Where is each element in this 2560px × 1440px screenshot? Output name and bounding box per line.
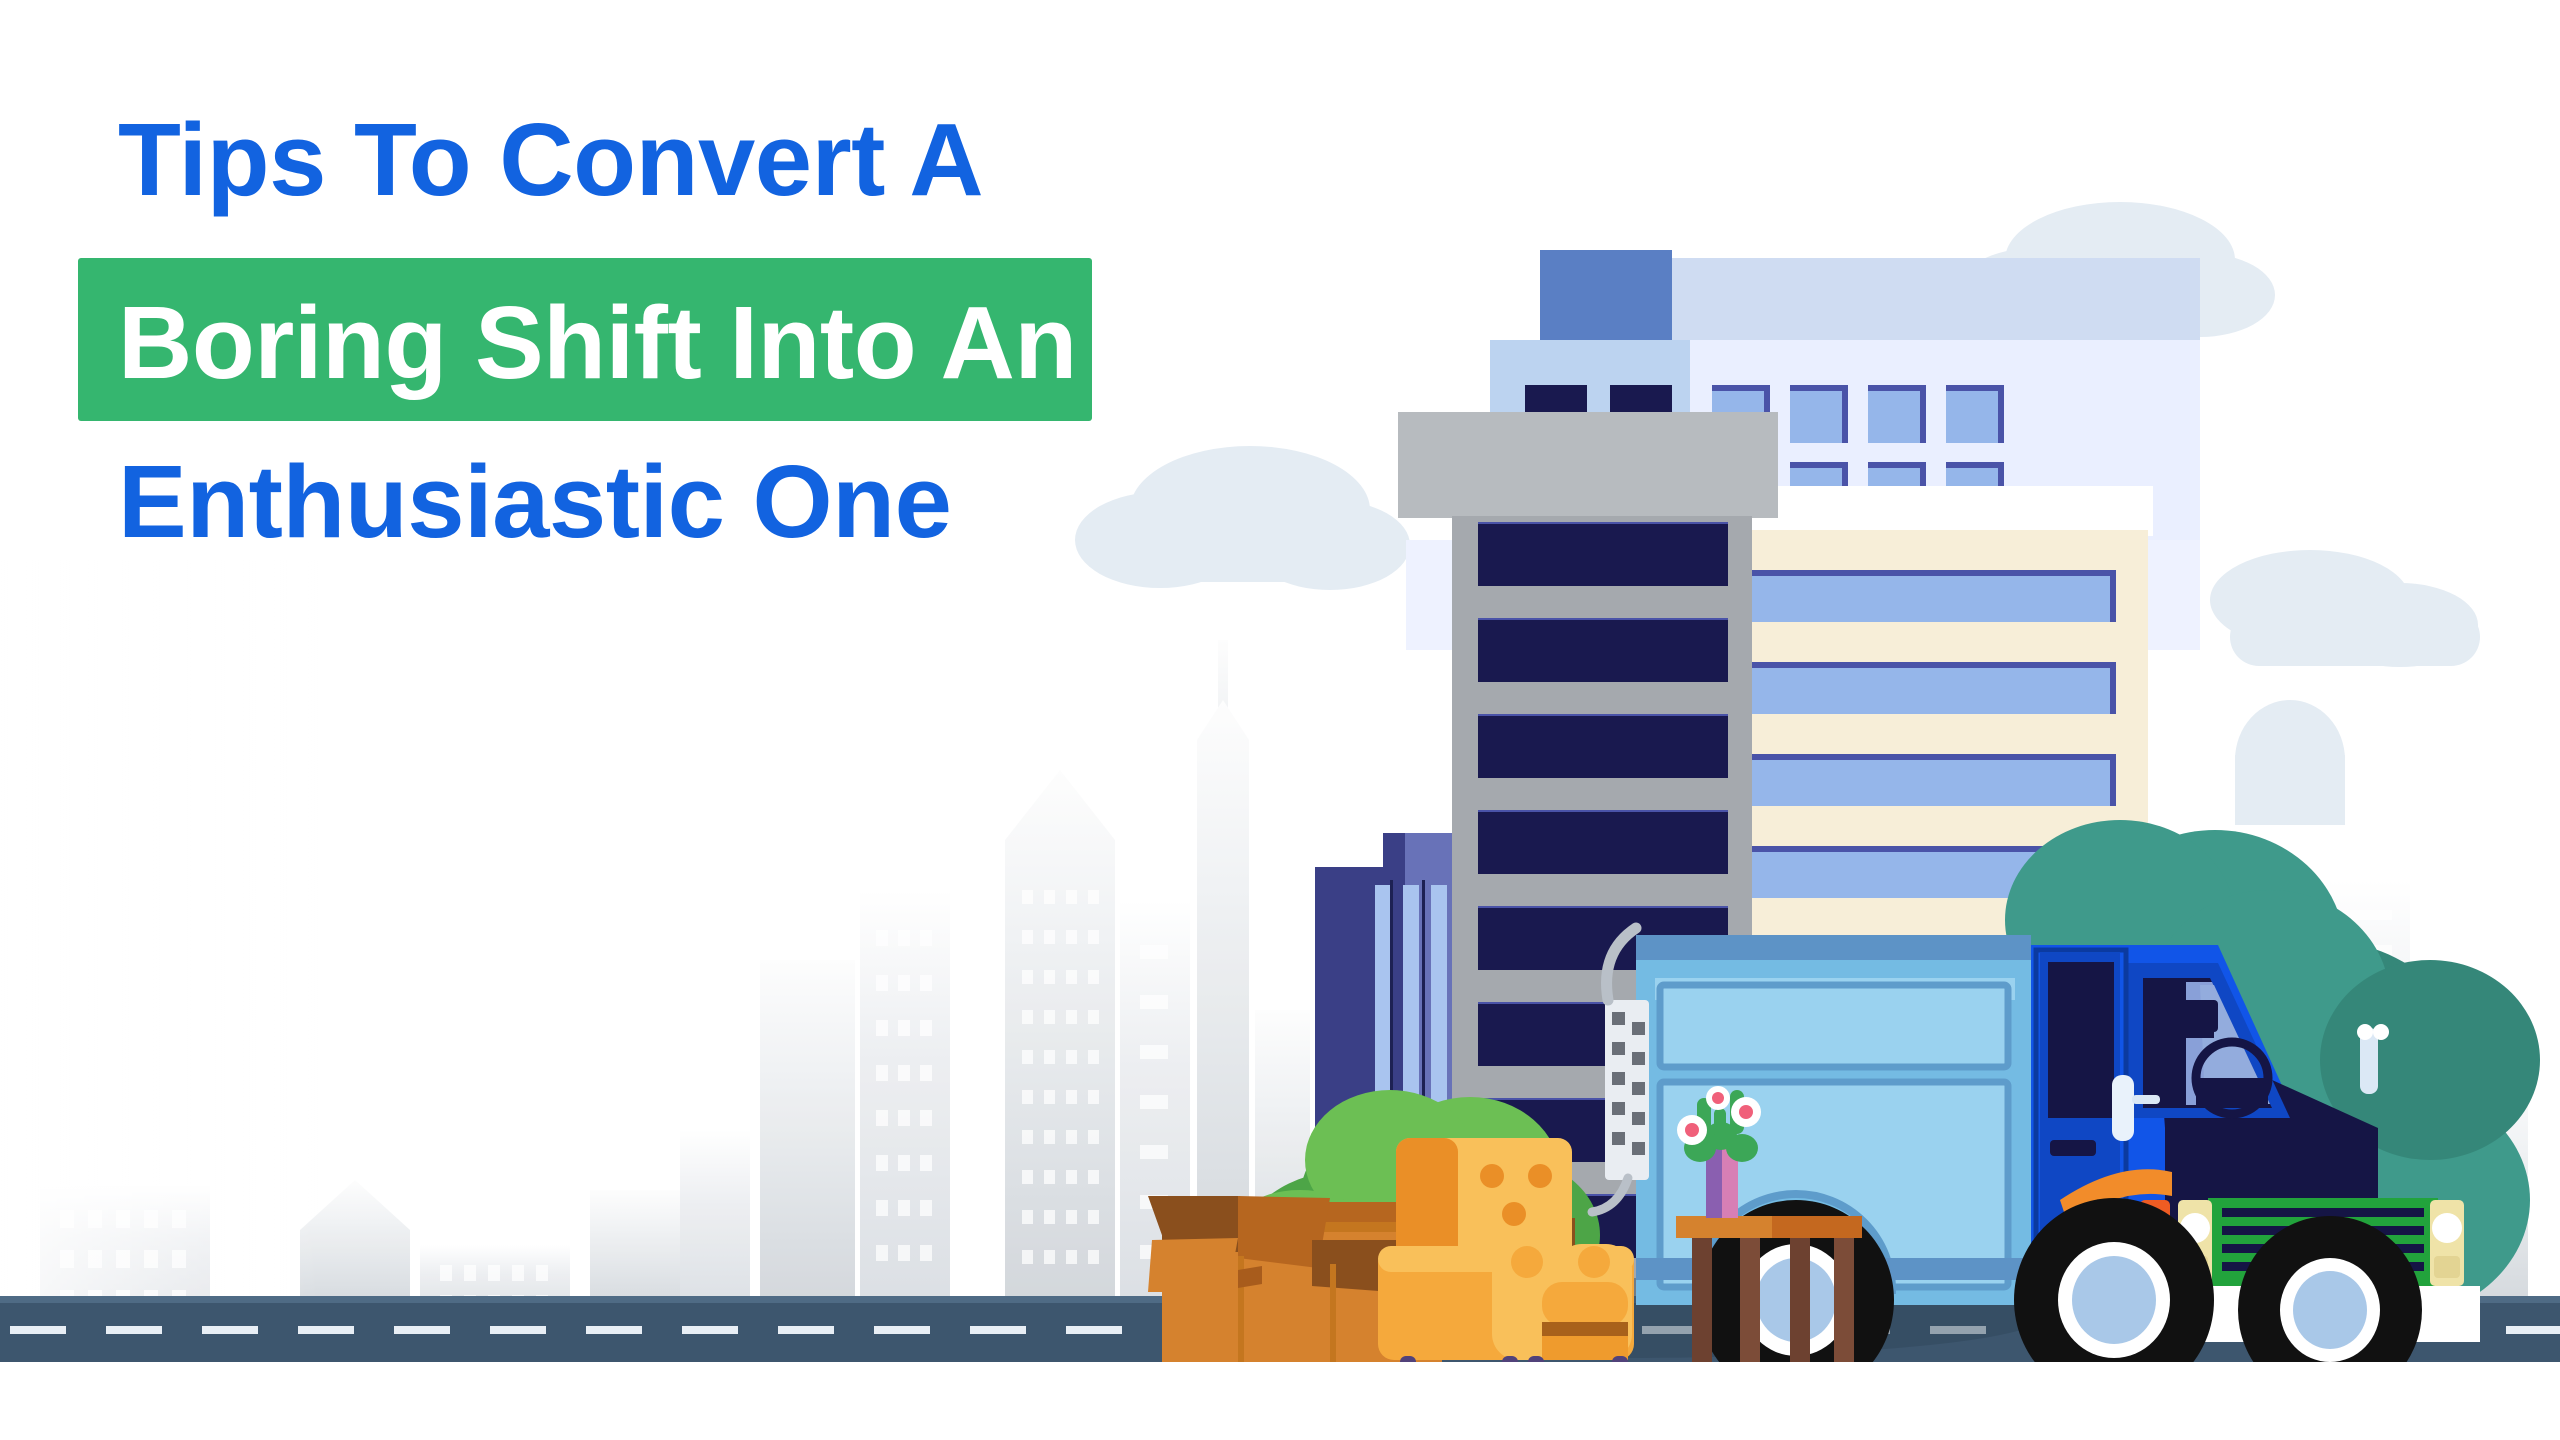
cloud-small-mid [2235, 700, 2345, 825]
headline-line-3: Enthusiastic One [118, 450, 951, 553]
cloud-left [1075, 446, 1410, 590]
box-flap-left [1148, 1238, 1238, 1292]
cloud-right [2210, 550, 2480, 667]
headline-highlight-band: Boring Shift Into An [78, 258, 1092, 421]
banner-root: Tips To Convert A Boring Shift Into An E… [0, 0, 2560, 1440]
headline-line-1: Tips To Convert A [118, 108, 983, 211]
headline-line-2: Boring Shift Into An [118, 291, 1077, 394]
